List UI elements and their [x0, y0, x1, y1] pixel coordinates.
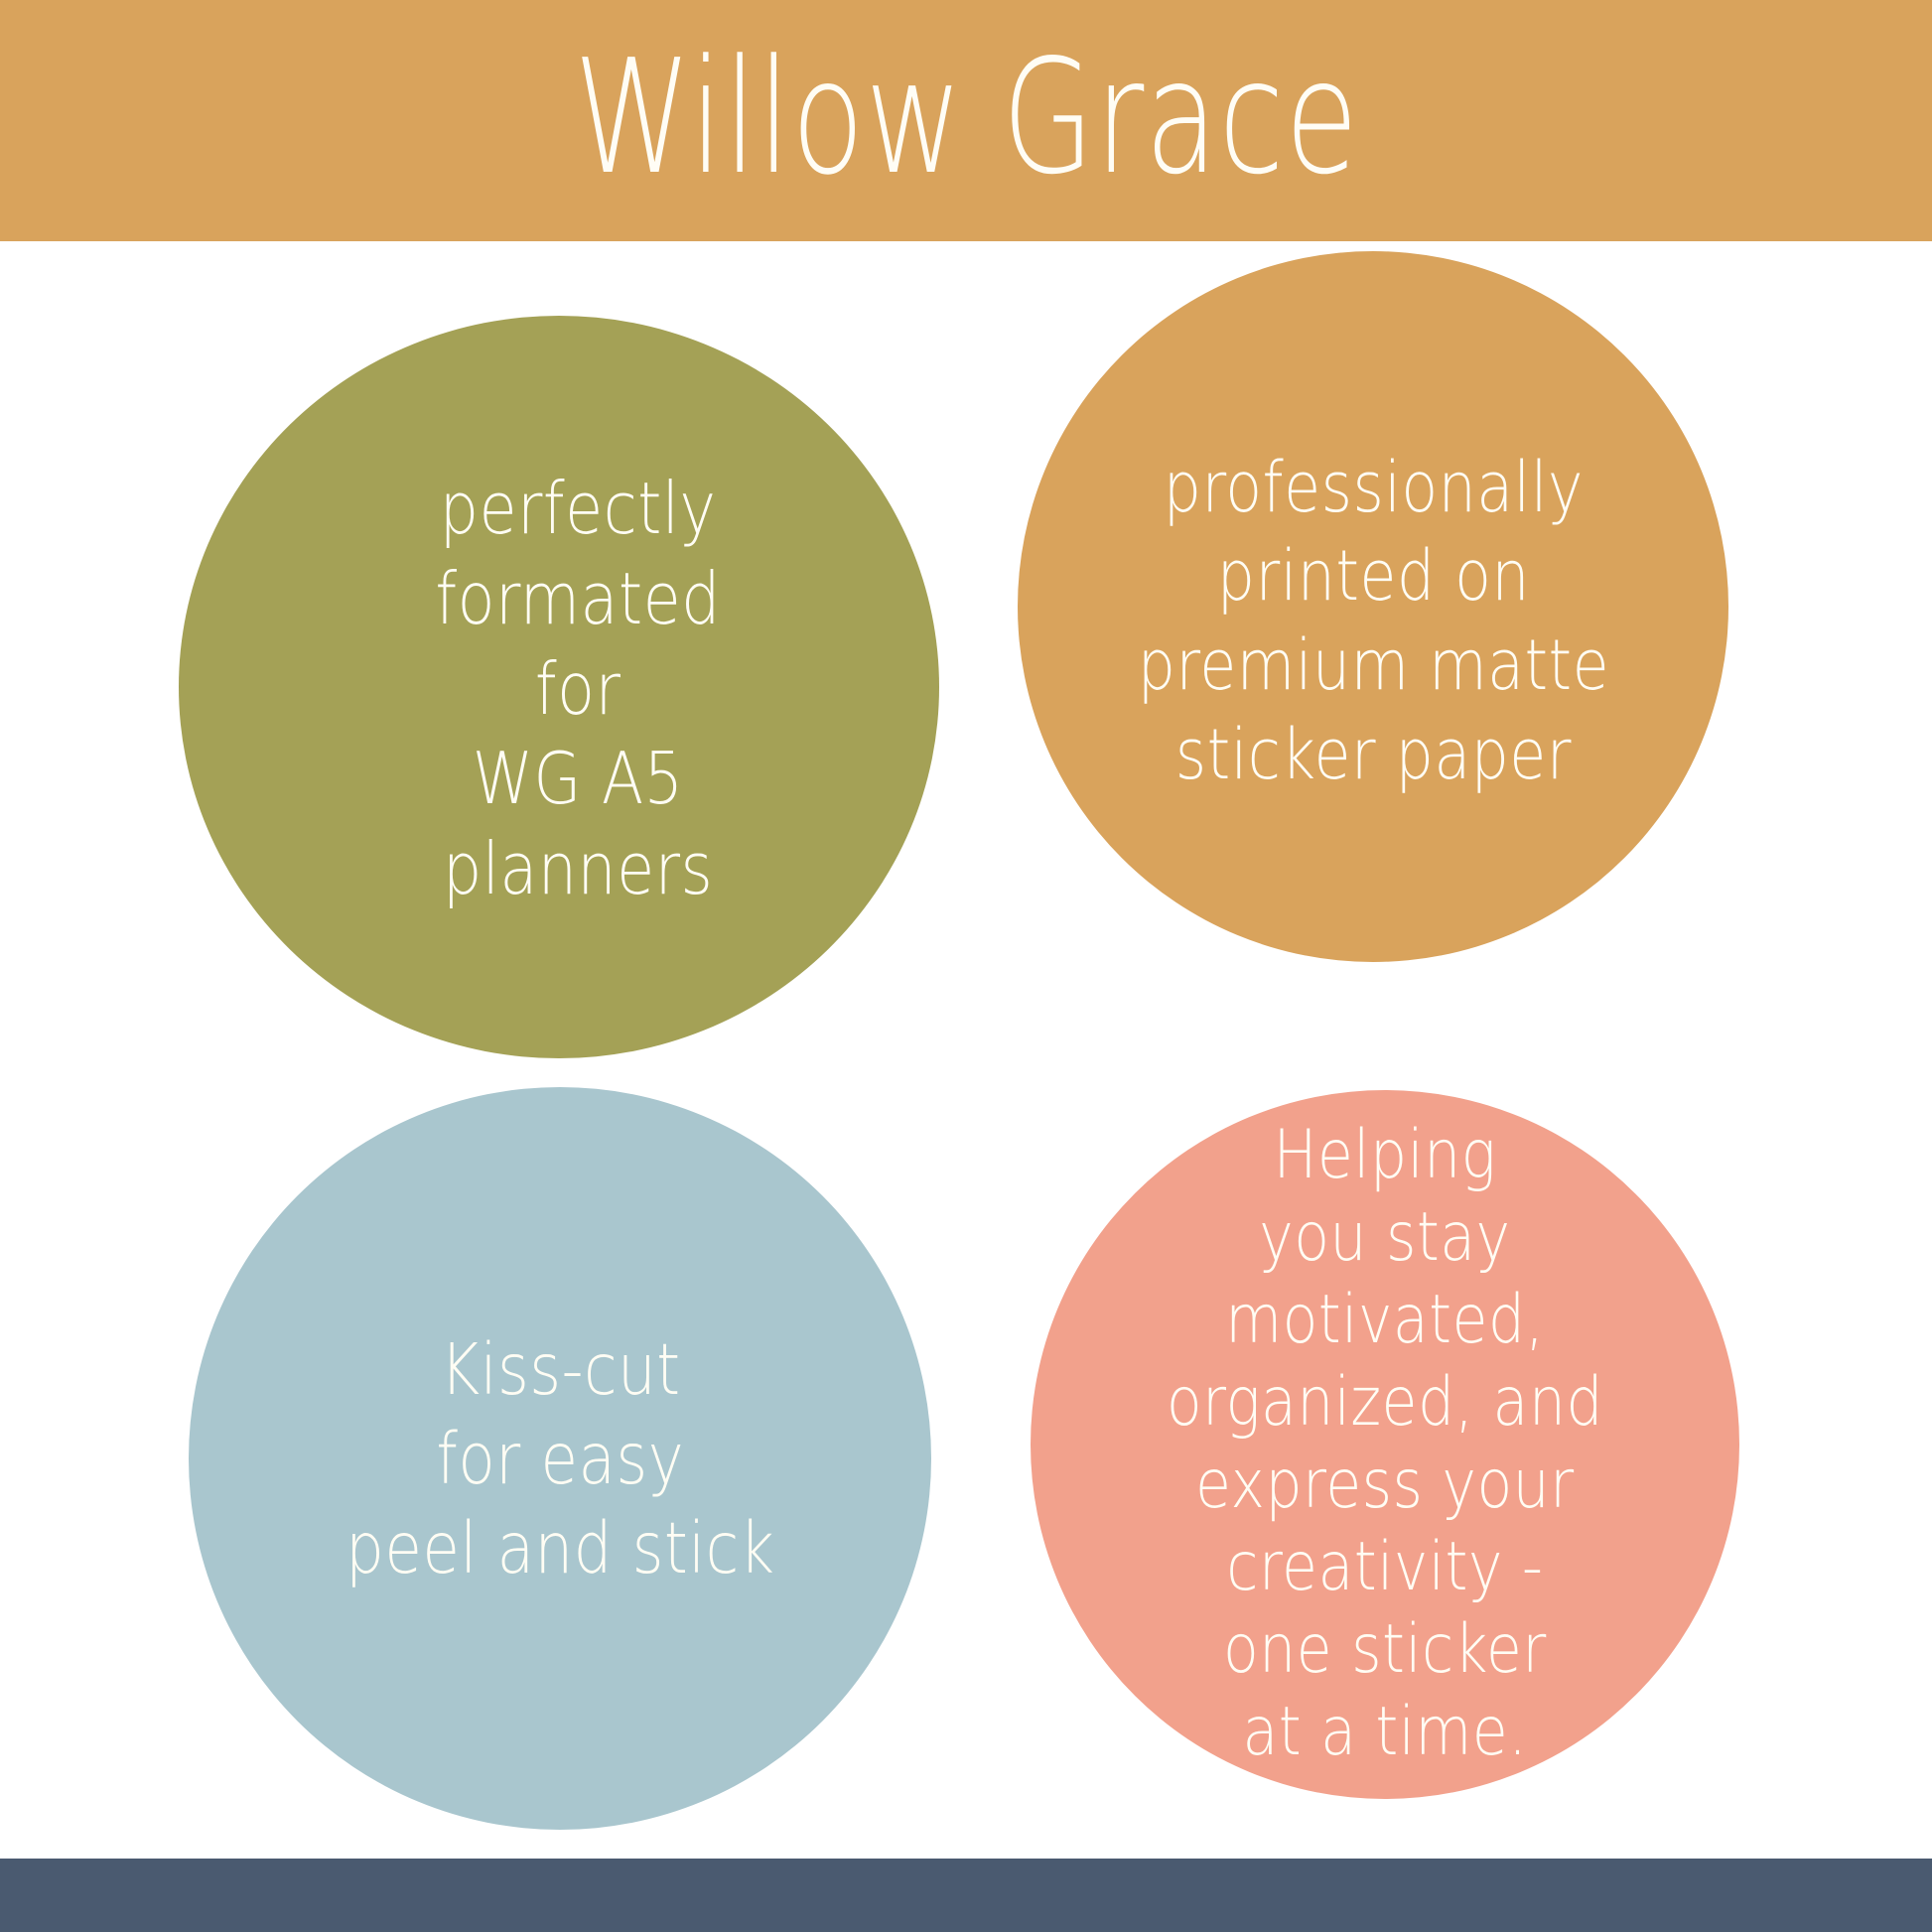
- feature-bubble-orange: professionally printed on premium matte …: [1018, 251, 1728, 962]
- feature-bubble-blue-text: Kiss-cut for easy peel and stick: [345, 1325, 774, 1593]
- feature-bubble-blue: Kiss-cut for easy peel and stick: [189, 1087, 931, 1830]
- header-bar: Willow Grace: [0, 0, 1932, 241]
- feature-bubble-green-text: perfectly formated for WG A5 planners: [435, 464, 720, 914]
- feature-bubble-pink: Helping you stay motivated, organized, a…: [1031, 1090, 1739, 1799]
- feature-bubble-orange-text: professionally printed on premium matte …: [1137, 444, 1608, 799]
- feature-bubble-pink-text: Helping you stay motivated, organized, a…: [1167, 1115, 1603, 1774]
- page-title: Willow Grace: [573, 39, 1358, 197]
- infographic-canvas: Willow Grace perfectly formated for WG A…: [0, 0, 1932, 1932]
- feature-bubble-green: perfectly formated for WG A5 planners: [179, 316, 939, 1058]
- footer-bar: [0, 1859, 1932, 1932]
